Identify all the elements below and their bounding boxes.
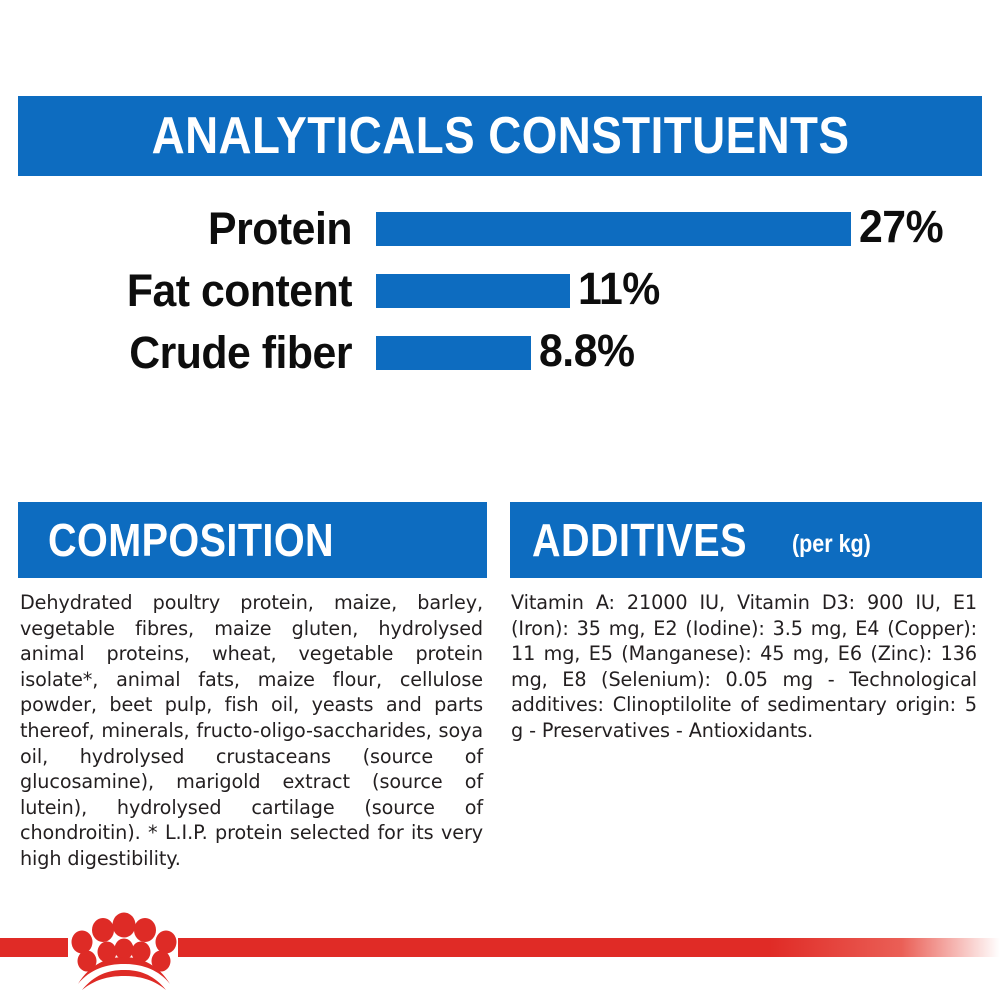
additives-text: Vitamin A: 21000 IU, Vitamin D3: 900 IU,… <box>511 590 977 744</box>
analyticals-constituents-banner: ANALYTICALS CONSTITUENTS <box>18 96 982 176</box>
bar-label-protein: Protein <box>56 205 352 253</box>
footer-brand-bar <box>0 900 1000 1000</box>
bar-label-crude-fiber: Crude fiber <box>56 329 352 377</box>
bar-track-protein <box>376 212 851 246</box>
bar-value-crude-fiber: 8.8% <box>539 327 635 375</box>
royal-canin-crown-icon <box>68 908 180 990</box>
bar-track-crude-fiber <box>376 336 531 370</box>
bar-value-fat-content: 11% <box>578 265 660 313</box>
bar-label-fat-content: Fat content <box>56 267 352 315</box>
bar-fill-crude-fiber <box>376 336 531 370</box>
product-info-page: ANALYTICALS CONSTITUENTS Protein 27% Fat… <box>0 0 1000 1000</box>
composition-text: Dehydrated poultry protein, maize, barle… <box>20 590 483 872</box>
bar-fill-protein <box>376 212 851 246</box>
additives-banner-title: ADDITIVES <box>532 517 747 563</box>
bar-row: Protein 27% <box>0 198 1000 260</box>
bar-fill-fat-content <box>376 274 570 308</box>
bar-value-protein: 27% <box>859 203 943 251</box>
composition-banner: COMPOSITION <box>18 502 487 578</box>
analyticals-banner-title: ANALYTICALS CONSTITUENTS <box>151 110 849 162</box>
footer-rule-left <box>0 938 68 957</box>
bar-row: Fat content 11% <box>0 260 1000 322</box>
analyticals-bar-chart: Protein 27% Fat content 11% Crude fiber … <box>0 196 1000 391</box>
composition-banner-title: COMPOSITION <box>48 517 334 563</box>
footer-rule-right <box>178 938 1000 957</box>
bar-track-fat-content <box>376 274 570 308</box>
additives-banner: ADDITIVES (per kg) <box>510 502 982 578</box>
bar-row: Crude fiber 8.8% <box>0 322 1000 384</box>
additives-banner-subtitle: (per kg) <box>792 532 871 557</box>
